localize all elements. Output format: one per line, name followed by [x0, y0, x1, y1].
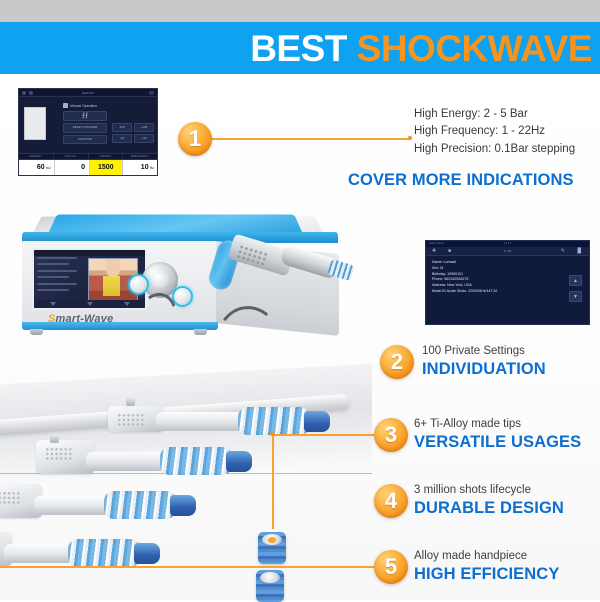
callout-3-caption: 6+ Ti-Alloy made tips VERSATILE USAGES	[414, 416, 581, 453]
screen-back-icon[interactable]	[50, 302, 56, 306]
control-panel-title: SETUP	[82, 91, 94, 95]
callout-4-headline: DURABLE DESIGN	[414, 498, 564, 519]
machine-foot	[30, 329, 43, 335]
poster-canvas: BEST SHOCKWAVE SETUP Manual Operation ⨍⨍…	[0, 0, 600, 600]
callout-badge-2[interactable]: 2	[380, 345, 414, 379]
callout-2-caption: 100 Private Settings INDIVIDUATION	[422, 343, 546, 380]
callout-badge-5[interactable]: 5	[374, 550, 408, 584]
screen-menu-line	[37, 257, 77, 259]
screen-menu-list	[37, 257, 85, 295]
screen-menu-line	[37, 283, 77, 285]
value-frequency-unit: Hz	[150, 166, 154, 170]
machine-mounted-handpiece	[213, 234, 358, 304]
screen-menu-line	[37, 263, 69, 265]
patient-page-indicator: 1 / 20	[504, 249, 512, 253]
machine-foot	[194, 329, 207, 335]
callout-4-caption: 3 million shots lifecycle DURABLE DESIGN	[414, 482, 564, 519]
edit-patient-icon[interactable]: ✎	[561, 248, 565, 254]
callout-2-subtitle: 100 Private Settings	[422, 343, 546, 359]
value-actual-number: 0	[81, 164, 85, 171]
screen-recents-icon[interactable]	[124, 302, 130, 306]
manual-operation-label-group: Manual Operation	[63, 103, 97, 108]
add-patient-icon[interactable]: ✚	[432, 248, 436, 254]
brand-name-rest: mart-Wave	[56, 313, 114, 325]
value-actual[interactable]: 0	[55, 160, 91, 175]
screen-status-bar	[34, 250, 145, 256]
callout-badge-4[interactable]: 4	[374, 484, 408, 518]
minus-100-button[interactable]: -100	[112, 123, 132, 132]
patient-list-scroll-controls: ▲ ▼	[569, 275, 582, 307]
callout-5-headline: HIGH EFFICIENCY	[414, 564, 559, 585]
callout-5-subtitle: Alloy made handpiece	[414, 548, 559, 564]
callout-1-specs: High Energy: 2 - 5 Bar High Frequency: 1…	[414, 106, 575, 158]
callout-badge-1-number: 1	[189, 128, 201, 150]
handpiece-ribbed-grip	[160, 447, 232, 475]
panel-menu-icon	[149, 91, 154, 95]
callout-badge-3[interactable]: 3	[374, 418, 408, 452]
value-frequency[interactable]: 10 Hz	[123, 160, 158, 175]
spec-high-precision: High Precision: 0.1Bar stepping	[414, 141, 575, 158]
value-energy[interactable]: 60 mJ	[19, 160, 55, 175]
handpiece-shaft	[86, 452, 168, 471]
control-panel-screenshot: SETUP Manual Operation ⨍⨍ RESET COUNTER …	[18, 88, 158, 176]
callout-leader-5	[0, 566, 376, 568]
value-frequency-number: 10	[141, 164, 149, 171]
callout-badge-1[interactable]: 1	[178, 122, 212, 156]
callout-leader-dot-1	[408, 136, 412, 140]
loose-tip-lower	[256, 570, 284, 602]
callout-badge-3-number: 3	[385, 424, 397, 446]
callout-leader-dot-3	[270, 432, 274, 436]
control-panel-values-row: 60 mJ 0 1500 10 Hz	[19, 159, 157, 175]
patient-detail-list: Name: Lumsail Sex: M Birthday: 19900101 …	[426, 256, 589, 299]
title-word-shockwave: SHOCKWAVE	[357, 28, 592, 69]
callout-leader-1	[212, 138, 410, 140]
delete-patient-icon[interactable]: ■	[448, 248, 451, 254]
handpiece-ribbed-tip	[327, 259, 355, 281]
shockwave-machine-photo: Smart-Wave	[8, 196, 360, 346]
panel-preview-thumbnail	[24, 107, 46, 140]
page-title: BEST SHOCKWAVE	[250, 30, 592, 67]
callout-3-headline: VERSATILE USAGES	[414, 432, 581, 453]
callout-badge-5-number: 5	[385, 556, 397, 578]
value-target-number: 1500	[98, 164, 114, 171]
title-word-best: BEST	[250, 28, 347, 69]
handpiece-shaft	[156, 412, 246, 431]
machine-port-left[interactable]	[128, 274, 149, 295]
callout-badge-4-number: 4	[385, 490, 397, 512]
panel-dot-icon	[29, 91, 33, 95]
spec-high-energy: High Energy: 2 - 5 Bar	[414, 106, 575, 123]
patient-treatment-mode: Mode:01 Acute Shots: 2200/05Hz/147.5J	[432, 289, 583, 295]
screen-menu-line	[37, 276, 69, 278]
control-panel-titlebar: SETUP	[19, 89, 157, 97]
callout-3-subtitle: 6+ Ti-Alloy made tips	[414, 416, 581, 432]
screen-home-icon[interactable]	[87, 302, 93, 306]
callout-2-headline: INDIVIDUATION	[422, 359, 546, 380]
screen-nav-bar[interactable]	[34, 300, 145, 308]
handpiece-unit	[0, 490, 234, 524]
reset-counter-button[interactable]: RESET COUNTER	[63, 123, 107, 133]
handpiece-blue-tip	[170, 495, 196, 516]
value-energy-unit: mJ	[46, 166, 51, 170]
panel-dot-icon	[22, 91, 26, 95]
control-panel-body: Manual Operation ⨍⨍ RESET COUNTER COUNTU…	[19, 97, 157, 157]
countup-button[interactable]: COUNTUP	[63, 135, 107, 144]
callout-1-caption: COVER MORE INDICATIONS	[348, 170, 574, 191]
top-grey-strip	[0, 0, 600, 22]
callout-5-caption: Alloy made handpiece HIGH EFFICIENCY	[414, 548, 559, 585]
minus-10-button[interactable]: -10	[112, 134, 132, 143]
screen-treatment-highlight	[103, 276, 119, 296]
scroll-down-button[interactable]: ▼	[569, 291, 582, 302]
callout-leader-3-horizontal	[272, 434, 376, 436]
callout-4-subtitle: 3 million shots lifecycle	[414, 482, 564, 498]
scroll-up-button[interactable]: ▲	[569, 275, 582, 286]
callout-leader-3-vertical	[272, 434, 274, 529]
handpieces-photo	[0, 398, 372, 600]
handpiece-blue-tip	[226, 451, 252, 472]
close-icon[interactable]: █	[577, 248, 581, 254]
handpiece-nozzle	[126, 397, 135, 406]
machine-brand-logo: Smart-Wave	[48, 313, 113, 325]
plus-100-button[interactable]: +100	[134, 123, 154, 132]
handpiece-blue-tip	[304, 411, 330, 432]
handpiece-ribbed-grip	[104, 491, 176, 519]
screen-menu-line	[37, 289, 69, 291]
handpiece-shaft	[34, 496, 112, 515]
handpiece-shaft	[4, 544, 76, 563]
value-energy-number: 60	[37, 164, 45, 171]
patient-history-screenshot: Patient history 2 4 0 2 ✚ ■ 1 / 20 ✎ █ N…	[425, 240, 590, 325]
header-banner: BEST SHOCKWAVE	[0, 22, 600, 74]
patient-panel-counter: 2 4 0 2	[504, 242, 511, 245]
handpiece-ribbed-grip	[68, 539, 140, 567]
manual-operation-label: Manual Operation	[70, 104, 97, 108]
hand-icon	[63, 103, 68, 108]
handpiece-blue-tip	[134, 543, 160, 564]
callout-1-headline: COVER MORE INDICATIONS	[348, 170, 574, 191]
spec-high-frequency: High Frequency: 1 - 22Hz	[414, 123, 575, 140]
brand-initial: S	[48, 313, 56, 325]
waveform-button[interactable]: ⨍⨍	[63, 111, 107, 121]
handpiece-unit	[36, 446, 286, 480]
handpiece-ribbed-grip	[238, 407, 310, 435]
screen-menu-line	[37, 270, 77, 272]
plus-10-button[interactable]: +10	[134, 134, 154, 143]
patient-panel-toolbar: ✚ ■ 1 / 20 ✎ █	[426, 247, 589, 256]
callout-badge-2-number: 2	[391, 351, 403, 373]
value-target[interactable]: 1500	[90, 160, 123, 175]
loose-tip-upper	[258, 532, 286, 564]
patient-panel-title: Patient history	[429, 242, 444, 245]
handpiece-nozzle	[50, 434, 59, 443]
